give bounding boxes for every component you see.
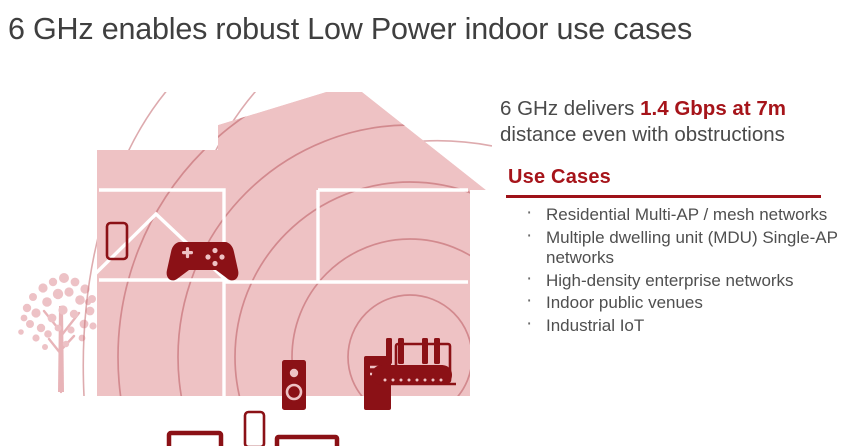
use-cases-heading: Use Cases [508,166,845,189]
list-item: Indoor public venues [508,293,845,314]
list-item: Multiple dwelling unit (MDU) Single-AP n… [508,228,845,269]
page-title: 6 GHz enables robust Low Power indoor us… [8,12,848,47]
television-icon [277,437,337,446]
stat-highlight: 1.4 Gbps at 7m [640,97,786,120]
list-item: Residential Multi-AP / mesh networks [508,205,845,226]
slide-canvas: 6 GHz enables robust Low Power indoor us… [0,0,852,446]
use-cases-list: Residential Multi-AP / mesh networks Mul… [508,205,845,336]
house-wifi-coverage-illustration [0,92,492,446]
list-item: High-density enterprise networks [508,271,845,292]
stat-statement: 6 GHz delivers 1.4 Gbps at 7m distance e… [500,96,845,148]
list-item: Industrial IoT [508,316,845,337]
use-cases-section: Use Cases Residential Multi-AP / mesh ne… [500,166,845,336]
stat-suffix: distance even with obstructions [500,123,785,146]
use-cases-divider [506,195,821,198]
right-content-column: 6 GHz delivers 1.4 Gbps at 7m distance e… [500,96,845,338]
speaker-icon [282,360,306,410]
tablet-icon [169,433,221,446]
smartphone-downstairs-icon [245,412,264,446]
stat-prefix: 6 GHz delivers [500,97,640,120]
